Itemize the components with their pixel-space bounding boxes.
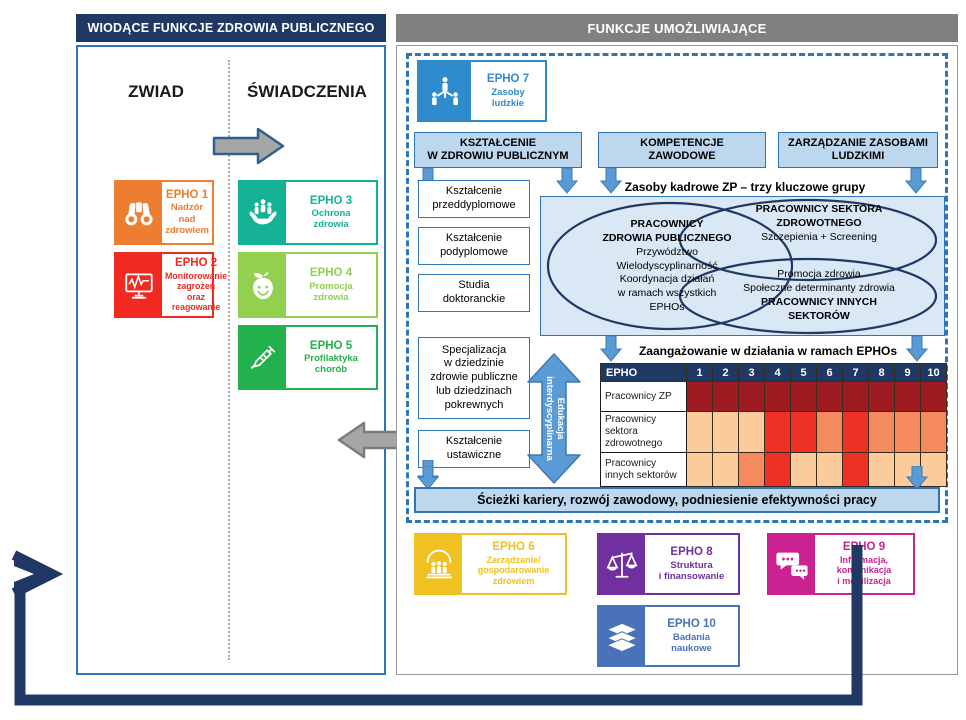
card-line2: ludzkie [492, 98, 524, 109]
heatmap-cell [791, 412, 817, 453]
heatmap-cell [843, 453, 869, 487]
card-line2: zdrowia [313, 292, 348, 303]
card-line2: zdrowia [313, 219, 348, 230]
card-title: EPHO 5 [310, 340, 352, 354]
workforce-venn-diagram: PRACOWNICY ZDROWIA PUBLICZNEGO Przywództ… [540, 196, 945, 336]
heatmap-cell [843, 382, 869, 412]
card-title: EPHO 7 [487, 73, 529, 87]
heatmap-header-col-1: 1 [687, 364, 713, 382]
heatmap-cell [739, 382, 765, 412]
heatmap-cell [791, 382, 817, 412]
heatmap-row: Pracownicy sektora zdrowotnego [601, 412, 947, 453]
engagement-heatmap-table: EPHO12345678910 Pracownicy ZPPracownicy … [600, 363, 940, 487]
engagement-caption: Zaangażowanie w działania w ramach EPHOs [618, 344, 918, 358]
heatmap-cell [713, 412, 739, 453]
syringe-icon [240, 327, 286, 388]
heatmap-header-col-10: 10 [921, 364, 947, 382]
heatmap-cell [739, 453, 765, 487]
heatmap-cell [869, 453, 895, 487]
card-epho4[interactable]: EPHO 4 Promocja zdrowia [238, 252, 378, 318]
column-title-zwiad: ZWIAD [96, 82, 216, 102]
heatmap-header-col-4: 4 [765, 364, 791, 382]
header-enabling-functions: FUNKCJE UMOŻLIWIAJĄCE [396, 14, 958, 42]
heatmap-header-col-7: 7 [843, 364, 869, 382]
gray-arrow-right-icon [212, 126, 286, 166]
heatmap-cell [817, 453, 843, 487]
card-title: EPHO 1 [166, 189, 208, 203]
heatmap-header-col-3: 3 [739, 364, 765, 382]
heatmap-cell [817, 382, 843, 412]
card-line1: Ochrona [311, 208, 350, 219]
card-epho2[interactable]: EPHO 2 Monitorowanie zagrożeń oraz reago… [114, 252, 214, 318]
pillar-label: KSZTAŁCENIE W ZDROWIU PUBLICZNYM [427, 137, 568, 164]
heatmap-header-row: EPHO12345678910 [601, 364, 947, 382]
card-line1: Promocja [309, 281, 352, 292]
binoculars-icon [116, 182, 162, 243]
edu-step-text: Kształcenie ustawiczne [446, 435, 502, 463]
heatmap-cell [687, 382, 713, 412]
heatmap-cell [869, 412, 895, 453]
edu-step-text: Specjalizacja w dziedzinie zdrowie publi… [430, 344, 517, 413]
heatmap-row-label: Pracownicy sektora zdrowotnego [601, 412, 687, 453]
heatmap-cell [765, 382, 791, 412]
venn-group-health-sector: PRACOWNICY SEKTORA ZDROWOTNEGO Szczepien… [708, 203, 930, 245]
pillar-education[interactable]: KSZTAŁCENIE W ZDROWIU PUBLICZNYM [414, 132, 582, 168]
card-epho1[interactable]: EPHO 1 Nadzór nad zdrowiem [114, 180, 214, 245]
edu-step-text: Studia doktoranckie [443, 279, 505, 307]
heatmap-cell [687, 453, 713, 487]
heatmap-cell [739, 412, 765, 453]
card-epho3[interactable]: EPHO 3 Ochrona zdrowia [238, 180, 378, 245]
heatmap-header-epho: EPHO [601, 364, 687, 382]
monitor-ecg-icon [116, 254, 162, 316]
heatmap-cell [713, 382, 739, 412]
card-line2: zagrożeń [177, 281, 215, 291]
heatmap-row-label: Pracownicy ZP [601, 382, 687, 412]
card-title: EPHO 2 [175, 257, 217, 271]
card-epho7[interactable]: EPHO 7 Zasoby ludzkie [417, 60, 547, 122]
edu-step-4[interactable]: Specjalizacja w dziedzinie zdrowie publi… [418, 337, 530, 419]
diagram-root: WIODĄCE FUNKCJE ZDROWIA PUBLICZNEGO FUNK… [0, 0, 966, 720]
card-line2: chorób [315, 364, 347, 375]
heatmap-cell [895, 382, 921, 412]
heatmap-cell [869, 382, 895, 412]
heatmap-header-col-8: 8 [869, 364, 895, 382]
heatmap-cell [843, 412, 869, 453]
card-line1: Monitorowanie [165, 271, 227, 281]
heatmap-row: Pracownicy innych sektorów [601, 453, 947, 487]
heatmap-row: Pracownicy ZP [601, 382, 947, 412]
heatmap-cell [895, 412, 921, 453]
heatmap-header-col-2: 2 [713, 364, 739, 382]
card-line1: Zasoby [491, 87, 524, 98]
heatmap-header-col-5: 5 [791, 364, 817, 382]
card-title: EPHO 4 [310, 267, 352, 281]
edu-step-text: Kształcenie przeddyplomowe [432, 185, 515, 213]
hands-people-icon [240, 182, 286, 243]
heatmap-body: Pracownicy ZPPracownicy sektora zdrowotn… [601, 382, 947, 487]
feedback-loop-arrow [0, 520, 966, 720]
edu-step-2[interactable]: Kształcenie podyplomowe [418, 227, 530, 265]
heatmap-cell [921, 412, 947, 453]
header-leading-functions: WIODĄCE FUNKCJE ZDROWIA PUBLICZNEGO [76, 14, 386, 42]
heatmap-cell [817, 412, 843, 453]
heatmap-cell [765, 453, 791, 487]
pillar-label: KOMPETENCJE ZAWODOWE [640, 137, 724, 164]
pillar-hr-management[interactable]: ZARZĄDZANIE ZASOBAMI LUDZKIMI [778, 132, 938, 168]
apple-icon [240, 254, 286, 316]
card-line1: Nadzór [171, 202, 203, 213]
pillar-competences[interactable]: KOMPETENCJE ZAWODOWE [598, 132, 766, 168]
interdisciplinary-education-arrow: Edukacja interdyscyplinarna [524, 352, 584, 485]
heatmap-cell [765, 412, 791, 453]
card-epho5[interactable]: EPHO 5 Profilaktyka chorób [238, 325, 378, 390]
venn-group-other-sectors: Promocja zdrowia Społeczne determinanty … [708, 268, 930, 323]
edu-step-3[interactable]: Studia doktoranckie [418, 274, 530, 312]
card-line1: Profilaktyka [304, 353, 358, 364]
card-title: EPHO 3 [310, 195, 352, 209]
venn-caption: Zasoby kadrowe ZP – trzy kluczowe grupy [560, 180, 930, 194]
heatmap-header-col-6: 6 [817, 364, 843, 382]
edu-step-text: Kształcenie podyplomowe [440, 232, 508, 260]
heatmap-header-col-9: 9 [895, 364, 921, 382]
heatmap-cell [791, 453, 817, 487]
heatmap-cell [713, 453, 739, 487]
heatmap-cell [921, 382, 947, 412]
pillar-label: ZARZĄDZANIE ZASOBAMI LUDZKIMI [788, 137, 928, 164]
heatmap-row-label: Pracownicy innych sektorów [601, 453, 687, 487]
card-line2: nad zdrowiem [165, 214, 209, 236]
people-network-icon [419, 62, 471, 120]
card-line3: oraz reagowanie [165, 292, 227, 313]
column-title-swiadczenia: ŚWIADCZENIA [236, 82, 378, 102]
edu-step-1[interactable]: Kształcenie przeddyplomowe [418, 180, 530, 218]
heatmap-cell [687, 412, 713, 453]
career-paths-bar: Ścieżki kariery, rozwój zawodowy, podnie… [414, 487, 940, 513]
